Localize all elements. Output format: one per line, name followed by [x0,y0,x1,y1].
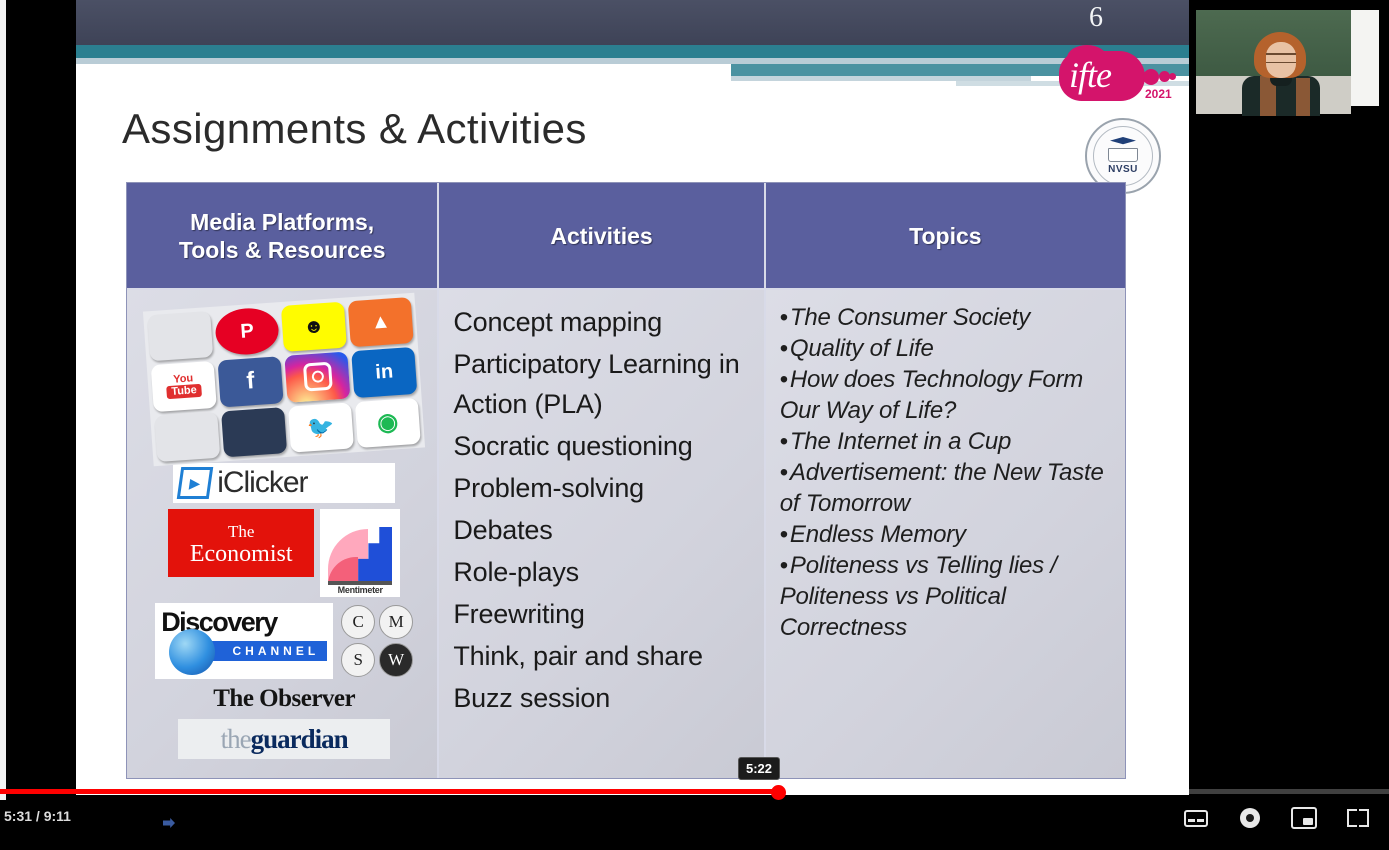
table-cell-media: P ☻ ▲ You Tube f in 🐦 [127,290,437,778]
slide-header-band [76,0,1189,45]
activities-list: Concept mappingParticipatory Learning in… [453,302,753,718]
progress-bar-played [0,789,778,794]
iclicker-logo-text: iClicker [217,466,307,500]
video-player[interactable]: 6 ifte 2021 NVSU Assignments & Activitie… [0,0,1389,850]
subtitles-cc-button[interactable] [1183,805,1209,831]
the-observer-logo: The Observer [213,685,355,713]
letterbox-bottom [0,800,1389,850]
settings-button[interactable] [1237,805,1263,831]
youtube-icon: You Tube [151,361,217,412]
globe-icon [169,629,215,675]
table-column-media: Media Platforms, Tools & Resources P ☻ ▲… [127,183,437,778]
presenter-webcam-overlay[interactable] [1190,0,1389,124]
time-display: 5:31 / 9:11 [4,808,71,824]
presenter-glasses [1266,53,1296,63]
table-cell-activities: Concept mappingParticipatory Learning in… [439,290,763,778]
gear-icon [1240,808,1260,828]
miniplayer-icon [1291,807,1317,829]
table-header-activities: Activities [439,183,763,290]
topic-item: Politeness vs Telling lies / Politeness … [780,550,1115,643]
badge-c: C [341,605,375,639]
discovery-channel-logo: Discovery CHANNEL [155,603,333,679]
topic-item: The Internet in a Cup [780,426,1115,457]
economist-logo: The Economist [168,509,314,577]
slide-number: 6 [1089,2,1103,34]
social-media-icons-collage: P ☻ ▲ You Tube f in 🐦 [143,293,425,467]
fullscreen-icon [1347,809,1369,827]
badge-w: W [379,643,413,677]
activity-item: Participatory Learning in Action (PLA) [453,344,753,424]
topic-item: Endless Memory [780,519,1115,550]
webcam-scene [1196,10,1351,114]
topic-item: Quality of Life [780,333,1115,364]
the-guardian-logo: theguardian [178,719,390,759]
topic-item: How does Technology Form Our Way of Life… [780,364,1115,426]
nvsu-seal-text: NVSU [1108,164,1138,175]
logo-row-economist-mentimeter: The Economist Mentimeter [168,509,400,597]
ifte-logo: ifte 2021 [1059,47,1177,109]
player-controls-right [1183,805,1371,831]
iclicker-mark-icon: ▶ [177,467,213,499]
open-book-icon [1108,148,1138,162]
slide-header-stripe [76,45,1189,58]
graduation-cap-icon [1110,137,1136,146]
mentimeter-logo: Mentimeter [320,509,400,597]
content-table: Media Platforms, Tools & Resources P ☻ ▲… [126,182,1126,779]
ifte-logo-text: ifte [1069,55,1111,95]
snapchat-icon: ☻ [281,302,347,353]
activity-item: Think, pair and share [453,636,753,676]
nvsu-seal-inner: NVSU [1093,126,1153,186]
topic-item: The Consumer Society [780,302,1115,333]
table-header-media-line2: Tools & Resources [179,236,386,264]
guardian-logo-the: the [221,724,251,755]
presentation-slide: 6 ifte 2021 NVSU Assignments & Activitie… [76,0,1189,795]
activity-item: Buzz session [453,678,753,718]
guardian-logo-name: guardian [251,724,348,755]
ifte-dot-large [1143,69,1159,85]
progress-hover-tooltip: 5:22 [738,757,780,780]
iclicker-logo: ▶ iClicker [173,463,395,503]
cmsw-badge-group: C M S W [341,605,413,677]
presenter-scarf-right [1296,78,1310,116]
pinterest-icon: P [214,306,280,357]
badge-s: S [341,643,375,677]
blank-tile-icon-2 [154,411,220,462]
activity-item: Concept mapping [453,302,753,342]
table-header-media-line1: Media Platforms, [179,208,386,236]
facebook-icon: f [218,357,284,408]
activity-item: Role-plays [453,552,753,592]
badge-m: M [379,605,413,639]
progress-bar[interactable] [0,789,1389,794]
table-header-media: Media Platforms, Tools & Resources [127,183,437,290]
table-column-topics: Topics The Consumer SocietyQuality of Li… [764,183,1125,778]
progress-scrubber-handle[interactable] [771,785,786,800]
logo-row-discovery-circles: Discovery CHANNEL C M S W [155,603,413,679]
navy-app-icon [221,407,287,458]
closed-captions-icon [1184,810,1208,827]
page-title: Assignments & Activities [122,105,587,153]
ifte-dot-small [1169,73,1176,80]
topic-item: Advertisement: the New Taste of Tomorrow [780,457,1115,519]
miniplayer-button[interactable] [1291,805,1317,831]
table-cell-topics: The Consumer SocietyQuality of LifeHow d… [766,290,1125,778]
webcam-white-panel [1351,10,1379,106]
ifte-logo-year: 2021 [1145,87,1172,101]
activity-item: Problem-solving [453,468,753,508]
letterbox-left [6,0,76,850]
twitter-icon: 🐦 [288,402,354,453]
table-column-activities: Activities Concept mappingParticipatory … [437,183,763,778]
youtube-tube-text: Tube [166,384,202,399]
topics-list: The Consumer SocietyQuality of LifeHow d… [780,302,1115,643]
activity-item: Freewriting [453,594,753,634]
economist-logo-name: Economist [190,543,293,565]
orange-app-icon: ▲ [348,297,414,348]
instagram-icon [285,352,351,403]
spotify-icon: ◉ [355,397,421,448]
activity-item: Socratic questioning [453,426,753,466]
economist-logo-the: The [228,521,254,543]
linkedin-icon: in [351,347,417,398]
table-header-topics: Topics [766,183,1125,290]
media-logo-stack: P ☻ ▲ You Tube f in 🐦 [141,302,427,759]
mentimeter-logo-text: Mentimeter [338,585,383,595]
blank-tile-icon [147,311,213,362]
mentimeter-chart-icon [328,523,392,585]
discovery-logo-channel: CHANNEL [199,641,327,661]
activity-item: Debates [453,510,753,550]
fullscreen-button[interactable] [1345,805,1371,831]
